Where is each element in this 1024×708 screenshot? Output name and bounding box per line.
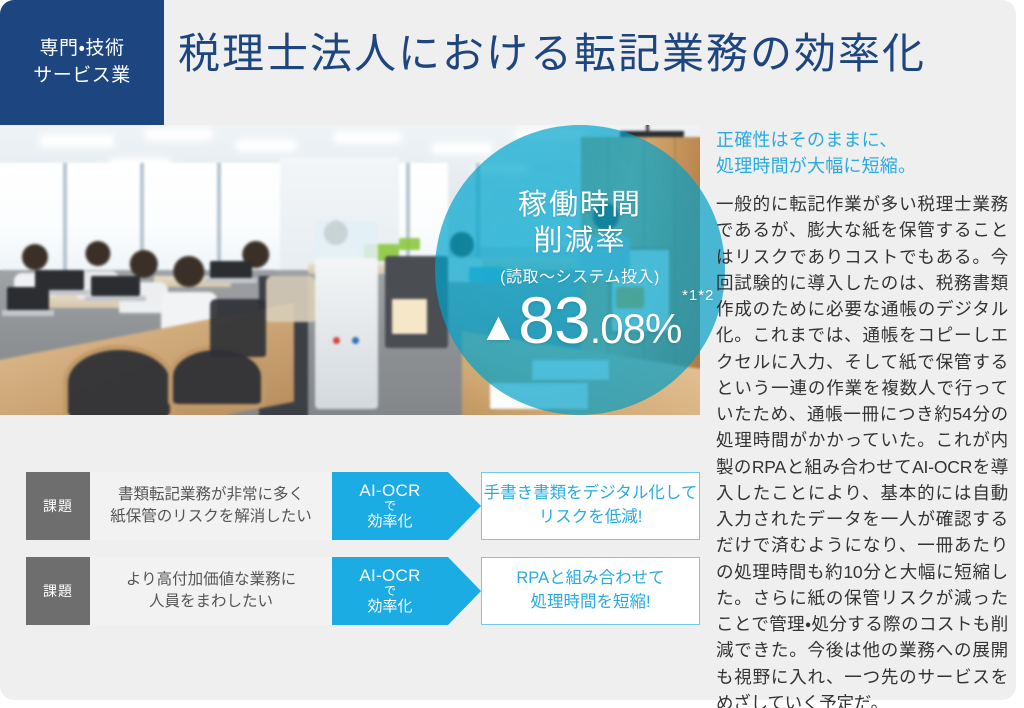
article-column: 正確性はそのままに、 処理時間が大幅に短縮。 一般的に転記作業が多い税理士業務で… bbox=[716, 128, 1008, 708]
article-body: 一般的に転記作業が多い税理士業務であるが、膨大な紙を保管することはリスクでありコ… bbox=[716, 191, 1008, 708]
stat-circle: 稼働時間 削減率 (読取〜システム投入) ▲ 83 .08% *1*2 bbox=[435, 125, 725, 415]
problem-line-2: 紙保管のリスクを解消したい bbox=[110, 506, 312, 528]
article-lead: 正確性はそのままに、 処理時間が大幅に短縮。 bbox=[716, 128, 1008, 179]
stat-value: ▲ 83 .08% *1*2 bbox=[479, 289, 682, 352]
challenge-row: 課題 より高付加価値な業務に 人員をまわしたい AI-OCR で 効率化 RPA… bbox=[26, 557, 700, 625]
stat-footnote-marker: *1*2 bbox=[682, 287, 714, 304]
page-header: 専門・技術 サービス業 税理士法人における転記業務の効率化 bbox=[0, 0, 1016, 125]
lead-line-1: 正確性はそのままに、 bbox=[716, 128, 1008, 154]
solution-particle: で bbox=[384, 500, 396, 513]
stat-decimal: .08% bbox=[590, 308, 682, 350]
down-triangle-icon: ▲ bbox=[479, 307, 519, 347]
result-line-2: 処理時間を短縮! bbox=[516, 591, 664, 615]
challenge-problem: より高付加価値な業務に 人員をまわしたい bbox=[90, 557, 332, 625]
page-title: 税理士法人における転記業務の効率化 bbox=[178, 29, 926, 79]
stat-title-line-1: 稼働時間 bbox=[518, 188, 642, 224]
challenge-label: 課題 bbox=[26, 472, 90, 540]
challenge-rows: 課題 書類転記業務が非常に多く 紙保管のリスクを解消したい AI-OCR で 効… bbox=[26, 472, 700, 642]
category-badge: 専門・技術 サービス業 bbox=[0, 0, 164, 125]
solution-effect: 効率化 bbox=[367, 599, 412, 616]
challenge-result: RPAと組み合わせて 処理時間を短縮! bbox=[481, 557, 700, 625]
challenge-label: 課題 bbox=[26, 557, 90, 625]
result-line-2: リスクを低減! bbox=[484, 506, 698, 530]
solution-name: AI-OCR bbox=[359, 481, 420, 500]
result-line-1: 手書き書類をデジタル化して bbox=[484, 482, 698, 506]
problem-line-2: 人員をまわしたい bbox=[126, 591, 296, 613]
solution-effect: 効率化 bbox=[367, 514, 412, 531]
solution-arrow: AI-OCR で 効率化 bbox=[332, 557, 448, 625]
stat-title-line-2: 削減率 bbox=[533, 224, 626, 260]
result-line-1: RPAと組み合わせて bbox=[516, 567, 664, 591]
challenge-row: 課題 書類転記業務が非常に多く 紙保管のリスクを解消したい AI-OCR で 効… bbox=[26, 472, 700, 540]
stat-integer: 83 bbox=[518, 289, 589, 352]
solution-particle: で bbox=[384, 585, 396, 598]
solution-arrow: AI-OCR で 効率化 bbox=[332, 472, 448, 540]
problem-line-1: より高付加価値な業務に bbox=[126, 569, 296, 591]
category-line-2: サービス業 bbox=[33, 63, 131, 90]
challenge-problem: 書類転記業務が非常に多く 紙保管のリスクを解消したい bbox=[90, 472, 332, 540]
problem-line-1: 書類転記業務が非常に多く bbox=[110, 484, 312, 506]
solution-name: AI-OCR bbox=[359, 566, 420, 585]
case-study-page: 専門・技術 サービス業 税理士法人における転記業務の効率化 bbox=[0, 0, 1024, 708]
challenge-result: 手書き書類をデジタル化して リスクを低減! bbox=[481, 472, 700, 540]
category-line-1: 専門・技術 bbox=[40, 36, 125, 63]
lead-line-2: 処理時間が大幅に短縮。 bbox=[716, 154, 1008, 180]
